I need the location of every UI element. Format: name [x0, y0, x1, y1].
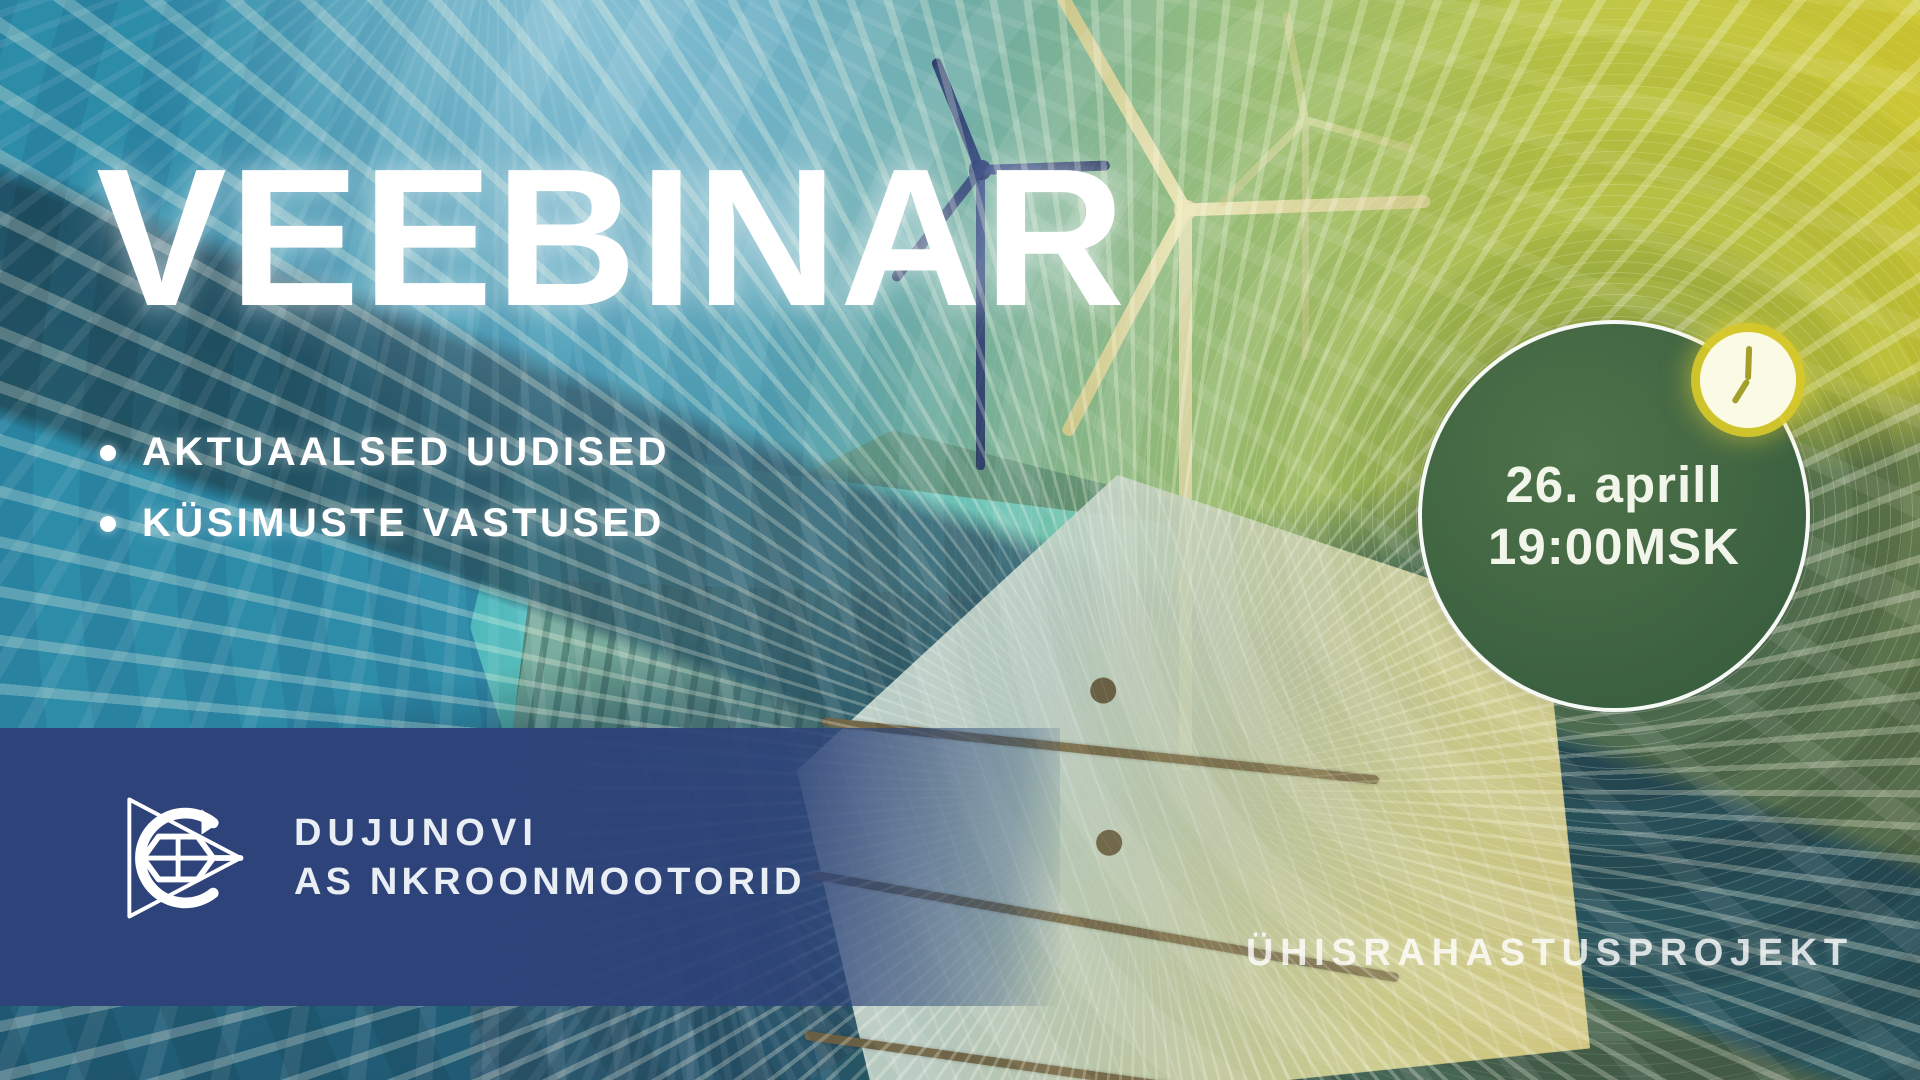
dujunovi-logo-mark-icon [104, 780, 260, 936]
list-item: AKTUAALSED UUDISED [100, 430, 670, 475]
bullet-label: KÜSIMUSTE VASTUSED [142, 501, 665, 546]
brand-line-2: AS NKROONMOOTORID [294, 861, 806, 904]
event-date: 26. aprill [1505, 454, 1722, 516]
feature-bullet-list: AKTUAALSED UUDISED KÜSIMUSTE VASTUSED [100, 430, 670, 572]
bullet-dot-icon [100, 445, 116, 461]
event-time: 19:00MSK [1488, 516, 1740, 578]
brand-logo: DUJUNOVI AS NKROONMOOTORID [104, 780, 806, 936]
page-title: VEEBINAR [96, 148, 1128, 328]
list-item: KÜSIMUSTE VASTUSED [100, 501, 670, 546]
clock-icon [1700, 332, 1796, 428]
brand-wordmark: DUJUNOVI AS NKROONMOOTORID [294, 812, 806, 904]
crowdfunding-label: ÜHISRAHASTUSPROJEKT [1246, 932, 1854, 975]
webinar-banner: VEEBINAR AKTUAALSED UUDISED KÜSIMUSTE VA… [0, 0, 1920, 1080]
bullet-label: AKTUAALSED UUDISED [142, 430, 670, 475]
brand-line-1: DUJUNOVI [294, 812, 806, 855]
bullet-dot-icon [100, 516, 116, 532]
